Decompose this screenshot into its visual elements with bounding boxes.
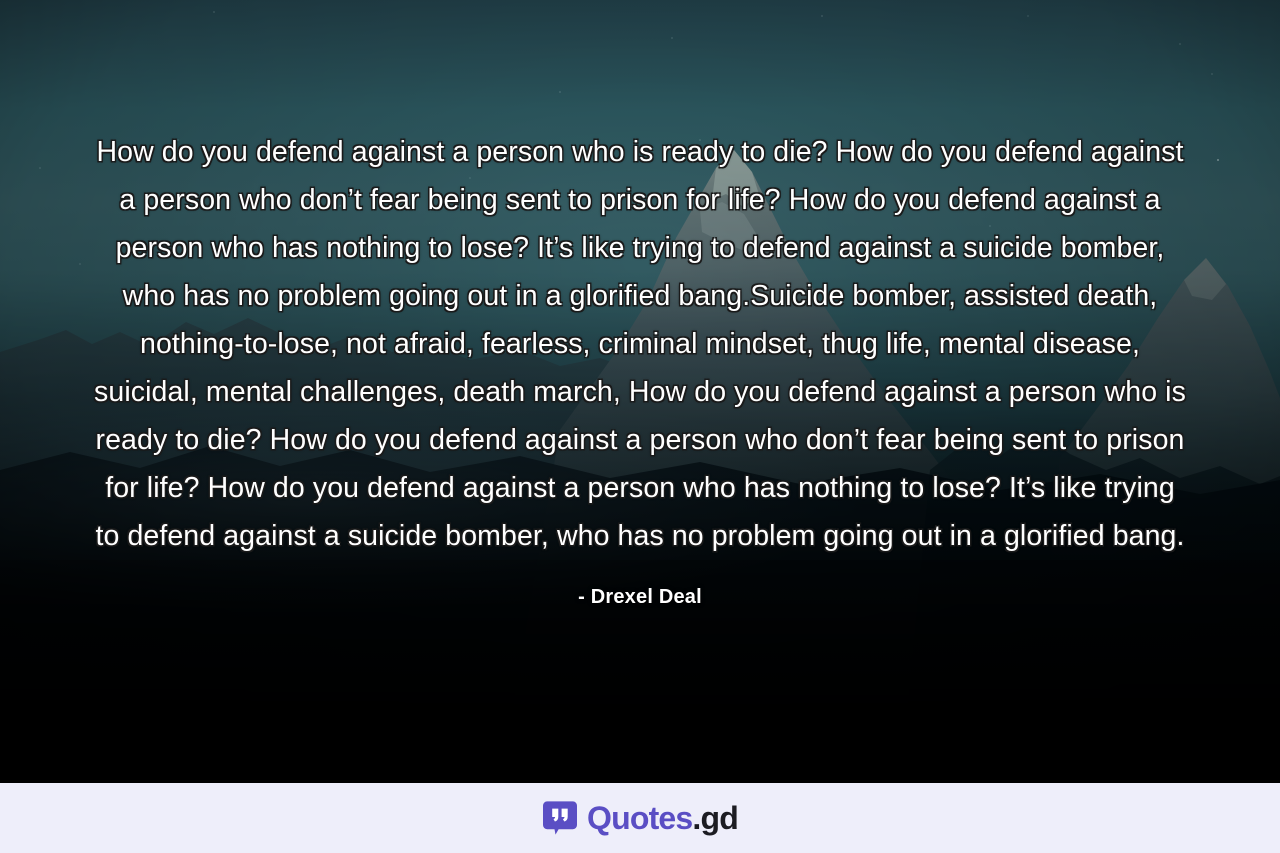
brand-name: Quotes [587, 800, 692, 836]
brand-tld: .gd [692, 800, 738, 836]
brand-wordmark: Quotes.gd [587, 802, 738, 834]
quote-author: - Drexel Deal [90, 586, 1190, 609]
brand-logo-link[interactable]: Quotes.gd [542, 800, 738, 836]
footer-bar: Quotes.gd [0, 783, 1280, 853]
quote-body: How do you defend against a person who i… [90, 128, 1190, 560]
quote-content: How do you defend against a person who i… [90, 128, 1190, 609]
quote-bubble-icon [542, 800, 578, 836]
quote-card: How do you defend against a person who i… [0, 0, 1280, 853]
